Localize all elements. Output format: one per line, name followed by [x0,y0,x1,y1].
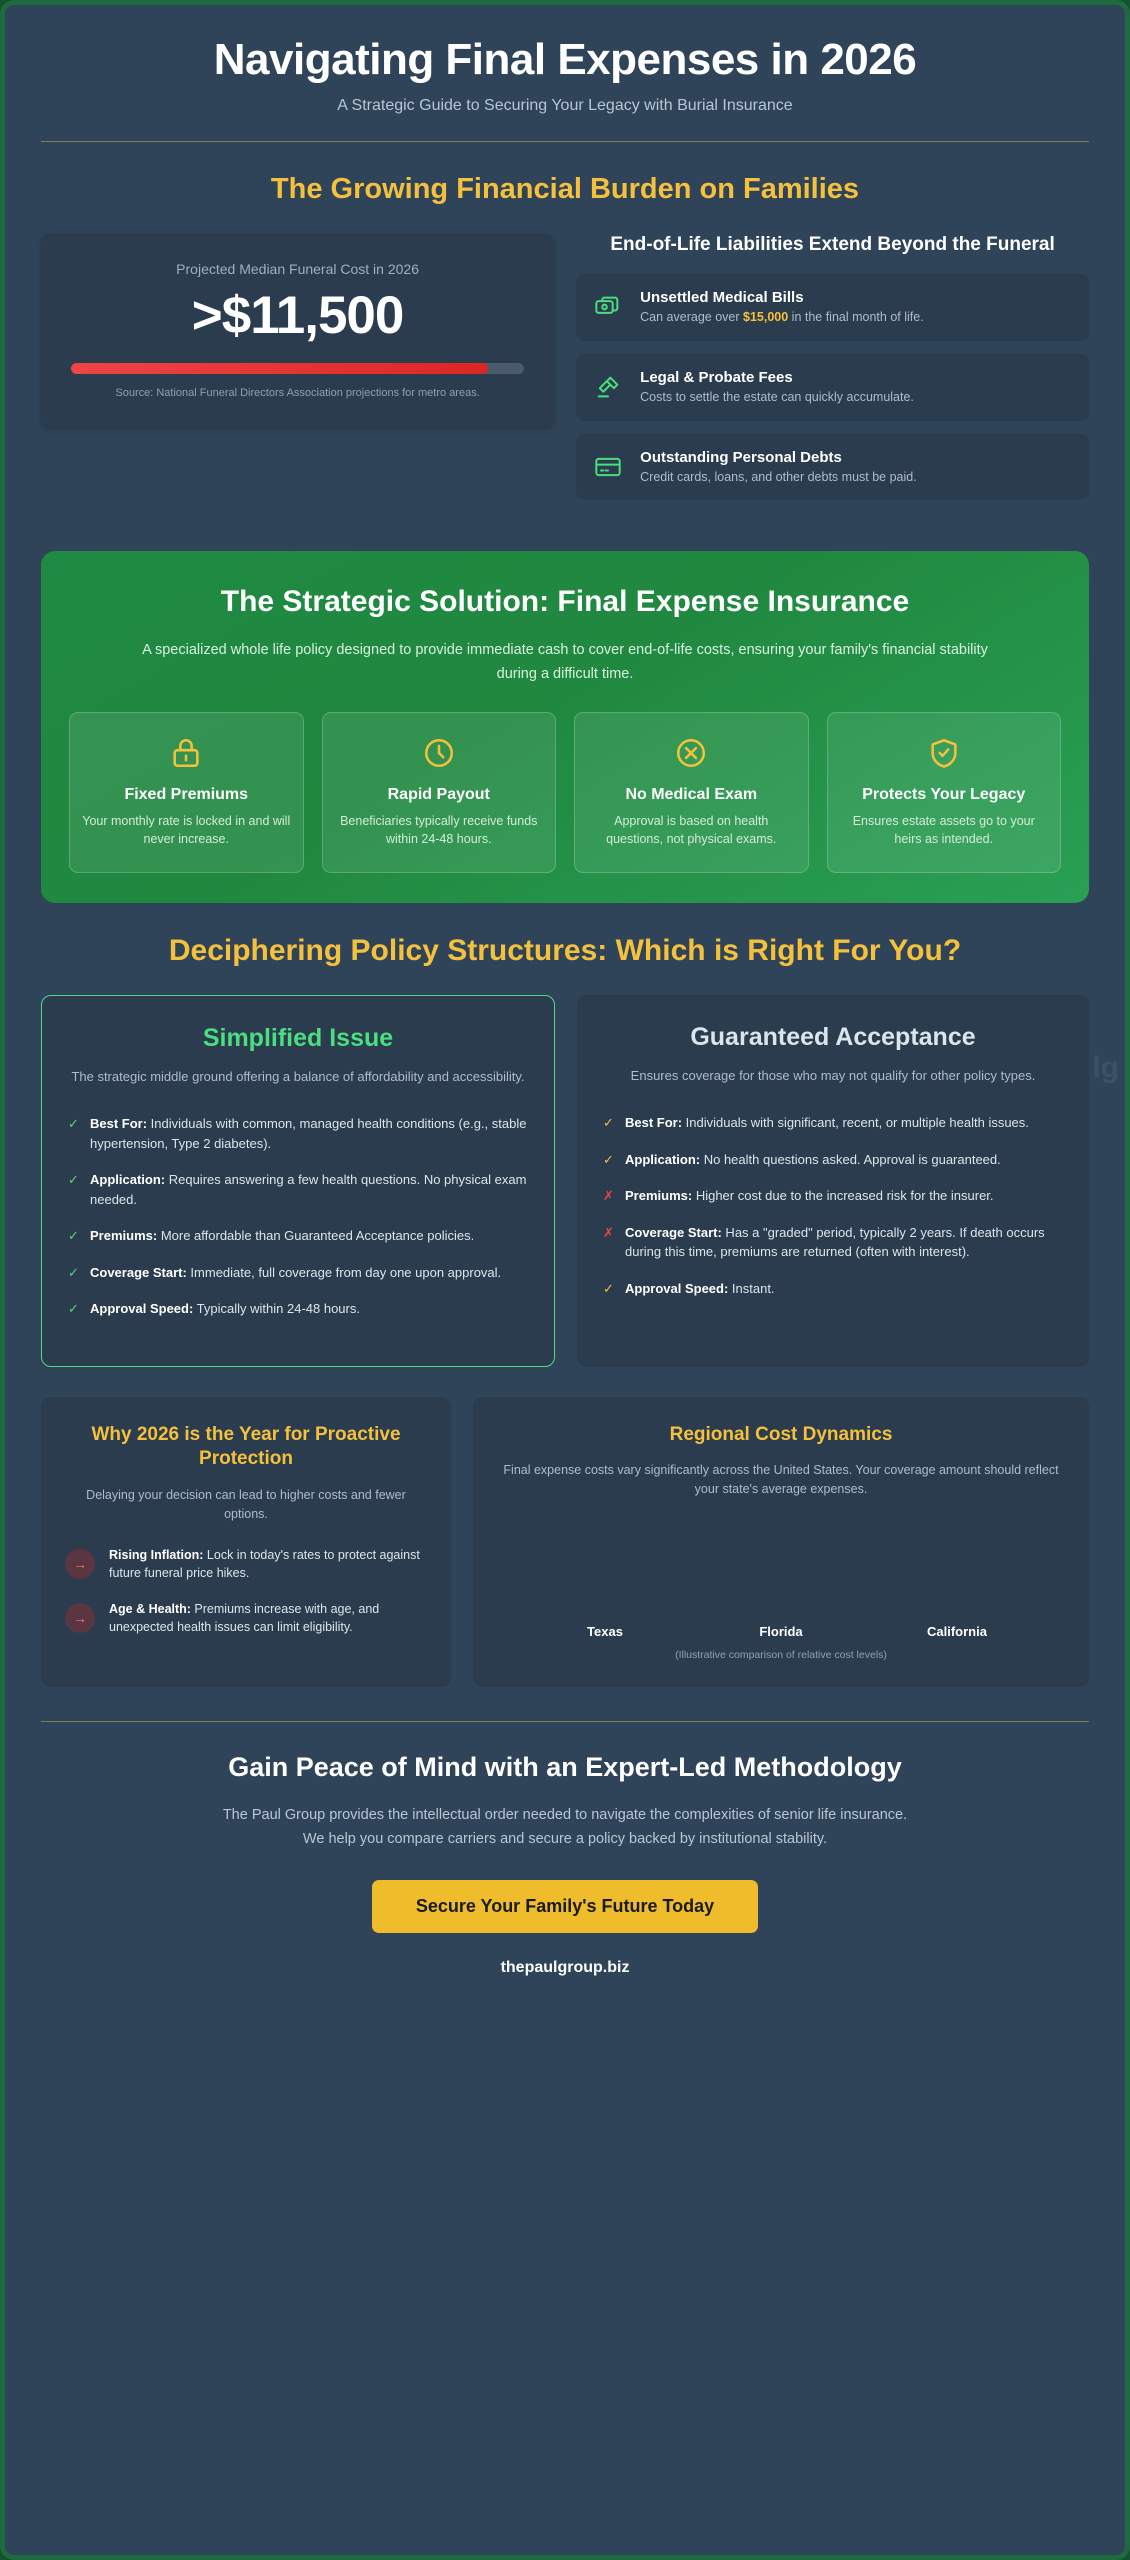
policy-card-simplified-issue: Simplified Issue The strategic middle gr… [41,995,555,1367]
liability-desc: Credit cards, loans, and other debts mus… [640,469,917,486]
cost-card-value: >$11,500 [67,287,528,345]
regional-cost-panel: Regional Cost Dynamics Final expense cos… [473,1397,1089,1687]
check-icon: ✓ [68,1226,80,1246]
feature-title: No Medical Exam [587,785,796,804]
policy-card-guaranteed-acceptance: Guaranteed Acceptance Ensures coverage f… [577,995,1089,1367]
policy-feature-text: Best For: Individuals with significant, … [625,1113,1029,1133]
risk-text: Rising Inflation: Lock in today's rates … [109,1546,427,1582]
solution-lead: A specialized whole life policy designed… [125,639,1005,686]
policy-feature-item: ✗Premiums: Higher cost due to the increa… [603,1186,1063,1206]
policy-feature-item: ✓Application: No health questions asked.… [603,1150,1063,1170]
feature-card-protects-legacy: Protects Your Legacy Ensures estate asse… [827,712,1062,872]
page-title: Navigating Final Expenses in 2026 [41,35,1089,84]
check-icon: ✓ [68,1263,80,1283]
feature-title: Protects Your Legacy [840,785,1049,804]
policy-feature-text: Premiums: More affordable than Guarantee… [90,1226,474,1246]
gavel-icon [594,373,624,401]
policy-name: Simplified Issue [68,1024,528,1053]
shield-check-icon [840,733,1049,773]
check-icon: ✓ [68,1170,80,1209]
liability-desc: Costs to settle the estate can quickly a… [640,389,914,406]
footer-domain: thepaulgroup.biz [75,1959,1055,1977]
lock-icon [82,733,291,773]
arrow-right-icon: → [65,1603,95,1633]
policy-comparison-row: Simplified Issue The strategic middle gr… [41,995,1089,1367]
feature-card-fixed-premiums: Fixed Premiums Your monthly rate is lock… [69,712,304,872]
liability-text: Unsettled Medical Bills Can average over… [640,289,924,326]
policy-lead: The strategic middle ground offering a b… [68,1067,528,1087]
infographic-page: Navigating Final Expenses in 2026 A Stra… [0,0,1130,2560]
page-subtitle: A Strategic Guide to Securing Your Legac… [41,97,1089,115]
footer-body: The Paul Group provides the intellectual… [215,1803,915,1852]
policy-feature-item: ✓Best For: Individuals with common, mana… [68,1114,528,1153]
cross-icon: ✗ [603,1186,615,1206]
why-2026-panel: Why 2026 is the Year for Proactive Prote… [41,1397,451,1687]
chart-bar-column: Texas [545,1614,665,1639]
chart-bar-label: Texas [545,1624,665,1639]
cross-icon: ✗ [603,1223,615,1262]
feature-desc: Your monthly rate is locked in and will … [82,812,291,848]
check-icon: ✓ [68,1299,80,1319]
chart-bar-label: Florida [721,1624,841,1639]
liability-title: Legal & Probate Fees [640,369,914,386]
policy-name: Guaranteed Acceptance [603,1023,1063,1052]
chart-note: (Illustrative comparison of relative cos… [497,1649,1065,1661]
why-2026-title: Why 2026 is the Year for Proactive Prote… [65,1423,427,1472]
policy-feature-item: ✓Approval Speed: Instant. [603,1279,1063,1299]
feature-desc: Approval is based on health questions, n… [587,812,796,848]
page-header: Navigating Final Expenses in 2026 A Stra… [5,5,1125,115]
policy-feature-text: Approval Speed: Instant. [625,1279,775,1299]
why-2026-lead: Delaying your decision can lead to highe… [65,1486,427,1524]
lower-panels-row: Why 2026 is the Year for Proactive Prote… [41,1397,1089,1687]
cost-progress-track [71,363,524,374]
regional-lead: Final expense costs vary significantly a… [497,1461,1065,1499]
cost-progress-fill [71,363,488,374]
check-icon: ✓ [603,1279,615,1299]
solution-feature-grid: Fixed Premiums Your monthly rate is lock… [69,712,1061,872]
policy-feature-text: Premiums: Higher cost due to the increas… [625,1186,994,1206]
risk-text: Age & Health: Premiums increase with age… [109,1600,427,1636]
chart-bar-column: California [897,1614,1017,1639]
solution-title: The Strategic Solution: Final Expense In… [69,585,1061,619]
regional-bar-chart: TexasFloridaCalifornia (Illustrative com… [497,1549,1065,1661]
policy-feature-item: ✗Coverage Start: Has a "graded" period, … [603,1223,1063,1262]
liability-card: Outstanding Personal Debts Credit cards,… [576,434,1089,501]
cost-card-label: Projected Median Funeral Cost in 2026 [67,261,528,277]
banknotes-icon [594,293,624,321]
policies-section-title: Deciphering Policy Structures: Which is … [41,933,1089,969]
solution-section: The Strategic Solution: Final Expense In… [41,551,1089,902]
policy-feature-text: Application: Requires answering a few he… [90,1170,528,1209]
policy-feature-item: ✓Coverage Start: Immediate, full coverag… [68,1263,528,1283]
feature-desc: Beneficiaries typically receive funds wi… [335,812,544,848]
risk-item: → Rising Inflation: Lock in today's rate… [65,1546,427,1582]
policy-feature-item: ✓Approval Speed: Typically within 24-48 … [68,1299,528,1319]
footer-title: Gain Peace of Mind with an Expert-Led Me… [75,1752,1055,1783]
clock-icon [335,733,544,773]
policy-feature-text: Coverage Start: Immediate, full coverage… [90,1263,501,1283]
policy-lead: Ensures coverage for those who may not q… [603,1066,1063,1086]
policy-feature-item: ✓Application: Requires answering a few h… [68,1170,528,1209]
check-icon: ✓ [68,1114,80,1153]
cta-button[interactable]: Secure Your Family's Future Today [372,1880,758,1933]
chart-bar-label: California [897,1624,1017,1639]
policy-feature-list: ✓Best For: Individuals with common, mana… [68,1114,528,1319]
risk-item: → Age & Health: Premiums increase with a… [65,1600,427,1636]
feature-card-no-medical-exam: No Medical Exam Approval is based on hea… [574,712,809,872]
feature-card-rapid-payout: Rapid Payout Beneficiaries typically rec… [322,712,557,872]
chart-bar-column: Florida [721,1614,841,1639]
policy-feature-list: ✓Best For: Individuals with significant,… [603,1113,1063,1298]
policy-feature-item: ✓Best For: Individuals with significant,… [603,1113,1063,1133]
liability-card: Legal & Probate Fees Costs to settle the… [576,354,1089,421]
policy-feature-text: Approval Speed: Typically within 24-48 h… [90,1299,360,1319]
liabilities-title: End-of-Life Liabilities Extend Beyond th… [576,233,1089,258]
burden-section-title: The Growing Financial Burden on Families [41,172,1089,207]
policy-feature-text: Application: No health questions asked. … [625,1150,1001,1170]
liability-text: Legal & Probate Fees Costs to settle the… [640,369,914,406]
cost-card-source: Source: National Funeral Directors Assoc… [67,386,528,402]
feature-title: Rapid Payout [335,785,544,804]
funeral-cost-card: Projected Median Funeral Cost in 2026 >$… [41,233,554,428]
no-exam-icon [587,733,796,773]
check-icon: ✓ [603,1113,615,1133]
policy-feature-item: ✓Premiums: More affordable than Guarante… [68,1226,528,1246]
liability-card: Unsettled Medical Bills Can average over… [576,274,1089,341]
liability-title: Unsettled Medical Bills [640,289,924,306]
policy-feature-text: Coverage Start: Has a "graded" period, t… [625,1223,1063,1262]
header-divider [41,141,1089,142]
feature-desc: Ensures estate assets go to your heirs a… [840,812,1049,848]
liability-text: Outstanding Personal Debts Credit cards,… [640,449,917,486]
liability-desc: Can average over $15,000 in the final mo… [640,309,924,326]
background-watermark: lg [1092,1051,1119,1085]
feature-title: Fixed Premiums [82,785,291,804]
chart-bars: TexasFloridaCalifornia [497,1549,1065,1639]
check-icon: ✓ [603,1150,615,1170]
credit-card-icon [594,453,624,481]
burden-row: Projected Median Funeral Cost in 2026 >$… [41,233,1089,513]
liability-title: Outstanding Personal Debts [640,449,917,466]
regional-title: Regional Cost Dynamics [497,1423,1065,1448]
liabilities-column: End-of-Life Liabilities Extend Beyond th… [576,233,1089,513]
arrow-right-icon: → [65,1549,95,1579]
policy-feature-text: Best For: Individuals with common, manag… [90,1114,528,1153]
footer-section: Gain Peace of Mind with an Expert-Led Me… [5,1722,1125,1987]
